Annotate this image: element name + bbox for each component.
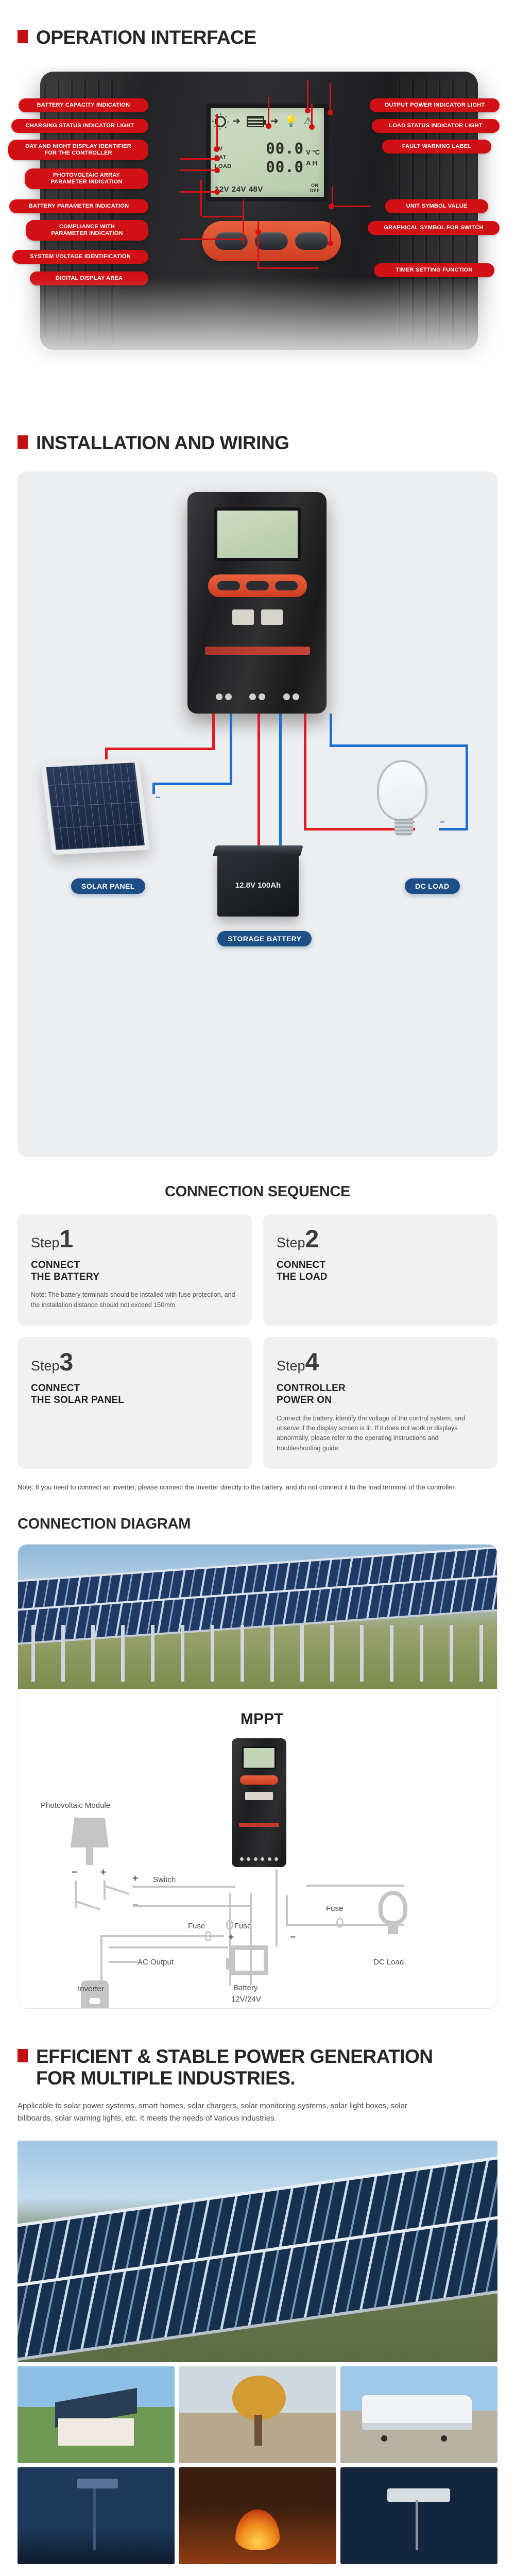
terminal-dots bbox=[240, 1857, 278, 1861]
lcd-unit-top: V °C bbox=[306, 148, 320, 156]
lcd-screen: ➜ ➜ 💡 ⚠ PV BAT LOAD 00.0 00.0 bbox=[206, 104, 329, 201]
load-minus-sign: − bbox=[440, 818, 445, 826]
controller-keypad[interactable] bbox=[202, 221, 341, 261]
callout-battery-parameter-indication: BATTERY PARAMETER INDICATION bbox=[9, 199, 148, 213]
callout-graphical-symbol-for-switch: GRAPHICAL SYMBOL FOR SWITCH bbox=[368, 221, 500, 235]
connection-diagram-card: MPPT Photovoltaic Module − + bbox=[18, 1544, 497, 2009]
step-1-note: Note: The battery terminals should be in… bbox=[31, 1290, 238, 1310]
efficient-stable-title: EFFICIENT & STABLE POWER GENERATION FOR … bbox=[36, 2046, 433, 2090]
storage-battery-image: 12.8V 100Ah bbox=[217, 854, 299, 917]
wire-load-negative bbox=[466, 744, 468, 830]
wiring-schematic: MPPT Photovoltaic Module − + bbox=[18, 1689, 497, 2008]
wire-load-negative bbox=[330, 744, 468, 747]
wire-load-positive bbox=[304, 714, 306, 830]
connection-diagram-title: CONNECTION DIAGRAM bbox=[0, 1516, 515, 1533]
leader-line bbox=[180, 239, 243, 240]
step-2-number: 2 bbox=[305, 1226, 319, 1253]
callout-dot bbox=[214, 156, 220, 161]
switch-plus-sign: + bbox=[132, 1873, 138, 1885]
leader-line bbox=[257, 221, 259, 268]
red-square-bullet-icon bbox=[18, 2049, 28, 2062]
battery-level-icon bbox=[247, 116, 264, 127]
label-photovoltaic-module: Photovoltaic Module bbox=[41, 1801, 110, 1810]
lcd-unit-bottom: A H bbox=[306, 159, 320, 167]
wire-load-negative bbox=[330, 714, 332, 745]
fuse-icon bbox=[336, 1918, 344, 1928]
label-ac-output: AC Output bbox=[138, 1958, 174, 1967]
step-4-kicker: Step4 bbox=[277, 1350, 484, 1375]
step-1-number: 1 bbox=[60, 1226, 73, 1253]
operation-interface-heading: OPERATION INTERFACE bbox=[0, 27, 515, 49]
controller-device-photo bbox=[187, 492, 327, 714]
callout-dot bbox=[266, 123, 271, 129]
step-2-kicker: Step2 bbox=[277, 1227, 484, 1252]
usb-ports bbox=[228, 609, 287, 628]
gallery-row-2 bbox=[18, 2467, 497, 2564]
wire-solar-negative bbox=[152, 783, 155, 794]
operation-interface-diagram: ➜ ➜ 💡 ⚠ PV BAT LOAD 00.0 00.0 bbox=[0, 66, 515, 396]
pv-plus-sign: + bbox=[100, 1867, 106, 1878]
controller-keypad[interactable] bbox=[208, 574, 307, 597]
label-fuse-3: Fuse bbox=[326, 1904, 343, 1913]
controller-lcd bbox=[214, 507, 301, 561]
step-card-1: Step1 CONNECT THE BATTERY Note: The batt… bbox=[18, 1214, 252, 1326]
solar-farm-photo bbox=[18, 1545, 497, 1689]
leader-line bbox=[202, 216, 244, 217]
wire-solar-positive bbox=[105, 748, 215, 750]
lcd-switch-symbol: ON OFF bbox=[310, 183, 320, 194]
step-card-3: Step3 CONNECT THE SOLAR PANEL bbox=[18, 1337, 252, 1469]
keypad-button-left[interactable] bbox=[217, 581, 240, 590]
label-dc-load: DC LOAD bbox=[405, 878, 460, 894]
lcd-digits-bottom: 00.0 bbox=[266, 158, 304, 176]
step-3-kicker: Step3 bbox=[31, 1350, 238, 1375]
label-dc-load: DC Load bbox=[373, 1958, 404, 1967]
label-fuse-1: Fuse bbox=[188, 1922, 205, 1930]
connection-sequence-grid: Step1 CONNECT THE BATTERY Note: The batt… bbox=[0, 1214, 515, 1469]
callout-timer-setting-function: TIMER SETTING FUNCTION bbox=[374, 263, 494, 277]
gallery-row-1 bbox=[18, 2366, 497, 2463]
gallery-image-tree bbox=[179, 2366, 336, 2463]
label-inverter: Inverter bbox=[78, 1985, 104, 1993]
gallery-image-campfire bbox=[179, 2467, 336, 2564]
leader-line bbox=[330, 83, 331, 112]
wire-solar-negative bbox=[152, 783, 232, 785]
leader-line bbox=[180, 158, 217, 160]
battery-terminal-group bbox=[249, 693, 265, 700]
callout-day-night-display-identifier: DAY AND NIGHT DISPLAY IDENTIFIER FOR THE… bbox=[8, 140, 148, 161]
step-4-number: 4 bbox=[305, 1349, 319, 1376]
leader-line bbox=[216, 114, 218, 149]
callout-dot bbox=[214, 167, 220, 173]
callout-charging-status-indicator-light: CHARGING STATUS INDICATOR LIGHT bbox=[11, 119, 148, 133]
load-bulb-icon: 💡 bbox=[285, 116, 298, 127]
usb-ports bbox=[245, 1792, 273, 1800]
controller-keypad[interactable] bbox=[240, 1775, 278, 1785]
gallery-image-security-camera bbox=[18, 2467, 175, 2564]
fade-overlay bbox=[0, 278, 515, 396]
leader-line bbox=[200, 180, 202, 216]
callout-dot bbox=[214, 146, 219, 152]
leader-line bbox=[307, 80, 308, 110]
keypad-button-right[interactable] bbox=[275, 581, 298, 590]
load-terminal-group bbox=[283, 693, 299, 700]
step-3-number: 3 bbox=[60, 1349, 73, 1376]
pv-minus-sign: − bbox=[72, 1867, 77, 1878]
section-connection-diagram: CONNECTION DIAGRAM MPPT bbox=[0, 1493, 515, 2009]
callout-dot bbox=[255, 229, 261, 235]
label-switch: Switch bbox=[153, 1875, 176, 1884]
installation-wiring-heading: INSTALLATION AND WIRING bbox=[0, 432, 515, 454]
keypad-button-right[interactable] bbox=[295, 232, 328, 250]
leader-line bbox=[180, 170, 217, 171]
step-1-heading: CONNECT THE BATTERY bbox=[31, 1259, 238, 1283]
step-2-heading: CONNECT THE LOAD bbox=[277, 1259, 484, 1283]
warning-label-strip bbox=[205, 647, 310, 655]
callout-unit-symbol-value: UNIT SYMBOL VALUE bbox=[385, 199, 488, 213]
lcd-unit-symbols: V °C A H bbox=[304, 132, 320, 183]
callout-photovoltaic-array-parameter-indication: PHOTOVOLTAIC ARRAY PARAMETER INDICATION bbox=[25, 168, 148, 190]
label-mppt-controller: MPPT bbox=[241, 1710, 283, 1728]
callout-dot bbox=[214, 189, 220, 195]
callout-fault-warning-label: FAULT WARNING LABEL bbox=[382, 140, 491, 154]
step-3-label: Step bbox=[31, 1358, 60, 1374]
lcd-digits-top: 00.0 bbox=[266, 140, 304, 157]
dc-load-bulb-icon bbox=[379, 1891, 407, 1934]
lcd-system-voltage: 12V 24V 48V bbox=[215, 185, 263, 194]
leader-line bbox=[333, 206, 370, 207]
photovoltaic-module-icon bbox=[71, 1818, 109, 1865]
controller-lcd bbox=[242, 1747, 276, 1769]
warning-label-strip bbox=[239, 1823, 279, 1827]
step-1-label: Step bbox=[31, 1235, 60, 1250]
leader-line bbox=[311, 104, 313, 126]
gallery-hero-solar-array bbox=[18, 2141, 497, 2362]
leader-line bbox=[180, 191, 217, 193]
step-4-heading: CONTROLLER POWER ON bbox=[277, 1382, 484, 1406]
section-installation-wiring: INSTALLATION AND WIRING bbox=[0, 396, 515, 1493]
gallery-image-solar-street-light bbox=[340, 2467, 497, 2564]
connection-sequence-footer-note: Note: If you need to connect an inverter… bbox=[0, 1469, 515, 1493]
section-efficient-stable: EFFICIENT & STABLE POWER GENERATION FOR … bbox=[0, 2009, 515, 2564]
step-card-2: Step2 CONNECT THE LOAD bbox=[263, 1214, 497, 1326]
efficient-stable-body: Applicable to solar power systems, smart… bbox=[0, 2090, 453, 2125]
page-title: OPERATION INTERFACE bbox=[36, 27, 256, 49]
terminal-block bbox=[207, 667, 308, 700]
section-operation-interface: OPERATION INTERFACE ➜ ➜ 💡 ⚠ PV BAT bbox=[0, 0, 515, 396]
battery-spec-label: 12.8V 100Ah bbox=[235, 881, 281, 890]
callout-dot bbox=[328, 241, 333, 246]
solar-minus-sign: − bbox=[156, 793, 161, 802]
gallery-image-rv bbox=[340, 2366, 497, 2463]
callout-output-power-indicator-light: OUTPUT POWER INDICATOR LIGHT bbox=[370, 98, 500, 112]
gallery-image-house bbox=[18, 2366, 175, 2463]
callout-dot bbox=[305, 108, 311, 113]
efficient-stable-heading: EFFICIENT & STABLE POWER GENERATION FOR … bbox=[0, 2046, 515, 2090]
label-battery-voltage: 12V/24V bbox=[231, 1995, 261, 2004]
lcd-switch-on: ON bbox=[311, 183, 319, 188]
application-gallery bbox=[18, 2141, 497, 2564]
battery-plus-sign: + bbox=[228, 1932, 234, 1943]
connection-sequence-title: CONNECTION SEQUENCE bbox=[0, 1183, 515, 1200]
wire-solar-positive bbox=[212, 714, 215, 750]
red-square-bullet-icon bbox=[18, 30, 28, 43]
keypad-button-middle[interactable] bbox=[246, 581, 269, 590]
callout-dot bbox=[309, 124, 315, 130]
wiring-diagram-card: + − + − + − 12.8V 100Ah SOLAR PANEL DC L… bbox=[18, 471, 497, 1157]
output-arrow-icon: ➜ bbox=[270, 116, 279, 126]
step-1-kicker: Step1 bbox=[31, 1227, 238, 1252]
step-4-note: Connect the battery, identify the voltag… bbox=[277, 1414, 484, 1454]
installation-wiring-title: INSTALLATION AND WIRING bbox=[36, 432, 289, 454]
callout-load-status-indicator-light: LOAD STATUS INDICATOR LIGHT bbox=[372, 119, 500, 133]
label-solar-panel: SOLAR PANEL bbox=[71, 878, 145, 894]
leader-line bbox=[257, 267, 318, 269]
callout-system-voltage-identification: SYSTEM VOLTAGE IDENTIFICATION bbox=[12, 250, 148, 264]
red-square-bullet-icon bbox=[18, 435, 28, 449]
battery-minus-sign: − bbox=[290, 1932, 296, 1943]
solar-panel-image bbox=[41, 758, 150, 855]
charge-arrow-icon: ➜ bbox=[232, 116, 241, 126]
callout-compliance-with-parameter-indication: COMPLIANCE WITH PARAMETER INDICATION bbox=[26, 220, 148, 241]
step-card-4: Step4 CONTROLLER POWER ON Connect the ba… bbox=[263, 1337, 497, 1469]
leader-line bbox=[330, 221, 331, 244]
label-fuse-2: Fuse bbox=[234, 1922, 251, 1930]
leader-line bbox=[268, 97, 269, 125]
battery-icon bbox=[230, 1945, 268, 1975]
leader-line bbox=[243, 199, 244, 244]
label-battery: Battery bbox=[233, 1984, 258, 1992]
callout-battery-capacity-indication: BATTERY CAPACITY INDICATION bbox=[19, 98, 148, 112]
dc-load-bulb-image bbox=[377, 760, 431, 837]
step-3-heading: CONNECT THE SOLAR PANEL bbox=[31, 1382, 238, 1406]
wire-solar-negative bbox=[230, 714, 232, 785]
keypad-button-middle[interactable] bbox=[255, 232, 288, 250]
controller-schematic-image bbox=[232, 1738, 286, 1867]
step-2-label: Step bbox=[277, 1235, 305, 1250]
step-4-label: Step bbox=[277, 1358, 305, 1374]
solar-terminal-group bbox=[216, 693, 232, 700]
wire-load-negative bbox=[439, 828, 468, 831]
callout-dot bbox=[328, 110, 333, 115]
lcd-digit-readout: 00.0 00.0 bbox=[231, 132, 304, 183]
product-detail-page: OPERATION INTERFACE ➜ ➜ 💡 ⚠ PV BAT bbox=[0, 0, 515, 2576]
callout-dot bbox=[329, 204, 334, 209]
label-storage-battery: STORAGE BATTERY bbox=[217, 931, 312, 946]
lcd-switch-off: OFF bbox=[310, 188, 320, 193]
